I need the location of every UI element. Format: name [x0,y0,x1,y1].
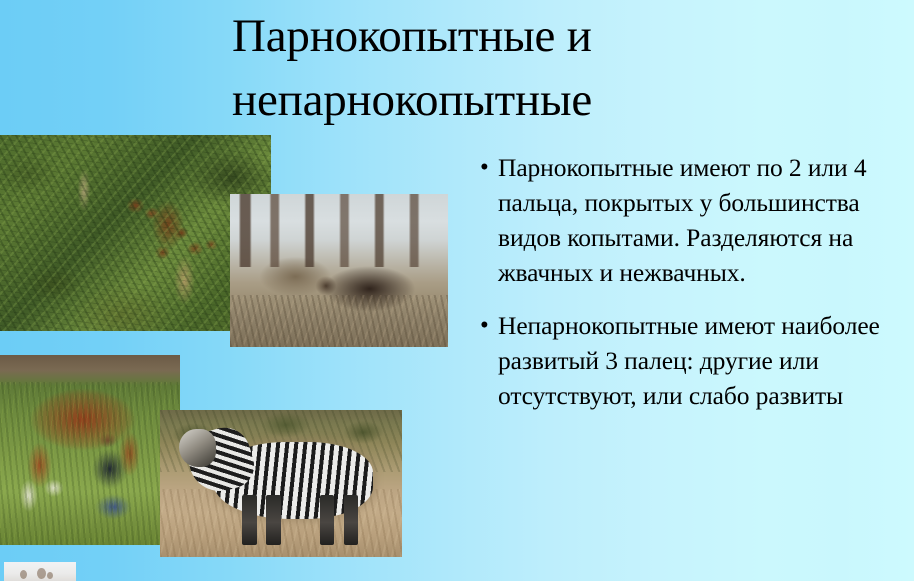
photo-zebras [160,410,402,557]
slide-title: Парнокопытные и непарнокопытные [232,4,792,132]
bullet-marker-icon: • [470,308,498,343]
bullet-marker-icon: • [470,150,498,185]
bullet-text-artiodactyls: Парнокопытные имеют по 2 или 4 пальца, п… [498,150,914,290]
sliver-spot-3 [47,572,53,579]
zebra-leg-rear [320,495,335,545]
boar-tree-trunks [230,194,448,267]
zebra-leg-front-2 [266,495,281,545]
boar-ground-texture [230,295,448,347]
zebra-leg-rear-2 [344,495,359,545]
bullet-item-2: • Непарнокопытные имеют наиболее развиты… [470,308,914,413]
sliver-spot-2 [37,568,46,579]
sliver-spot-1 [20,570,27,579]
bullet-item-1: • Парнокопытные имеют по 2 или 4 пальца,… [470,150,914,290]
photo-horse-with-person [0,355,180,545]
presentation-slide: Парнокопытные и непарнокопытные • Парнок… [0,0,914,581]
slide-body-bullet-list: • Парнокопытные имеют по 2 или 4 пальца,… [470,150,914,431]
bullet-text-perissodactyls: Непарнокопытные имеют наиболее развитый … [498,308,914,413]
photo-wild-boars [230,194,448,347]
zebra-head [179,429,215,467]
horse-grass-texture [0,382,180,545]
photo-partial-clipped [4,562,76,581]
zebra-leg-front [242,495,257,545]
